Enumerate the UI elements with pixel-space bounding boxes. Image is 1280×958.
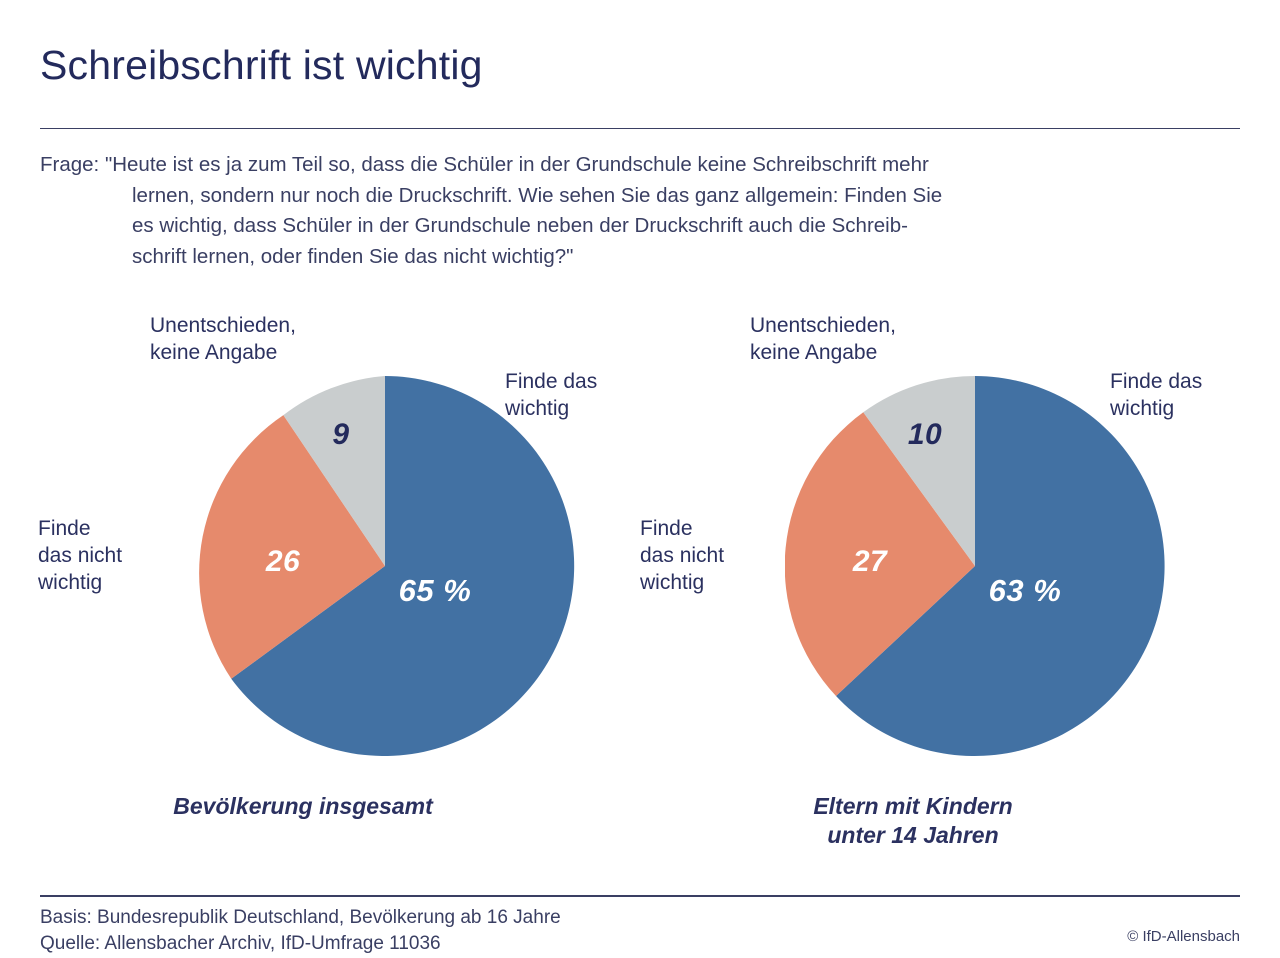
question-line-3: es wichtig, dass Schüler in der Grundsch… bbox=[40, 211, 1220, 242]
pie-caption-left: Bevölkerung insgesamt bbox=[23, 792, 583, 821]
pie-chart-eltern: Unentschieden, keine Angabe Finde das wi… bbox=[630, 300, 1190, 860]
question-line-1: Frage: "Heute ist es ja zum Teil so, das… bbox=[40, 150, 1220, 181]
footer-divider bbox=[40, 895, 1240, 897]
callout-notimportant-right-line2: das nicht bbox=[640, 542, 780, 569]
pie-value-important-left: 65 % bbox=[399, 573, 472, 608]
pie-chart-bevoelkerung: Unentschieden, keine Angabe Finde das wi… bbox=[20, 300, 580, 860]
callout-undecided-right-line1: Unentschieden, bbox=[750, 312, 980, 339]
question-line-2: lernen, sondern nur noch die Druckschrif… bbox=[40, 181, 1220, 212]
pie-value-undecided-left: 9 bbox=[332, 418, 349, 451]
callout-notimportant-left: Finde das nicht wichtig bbox=[38, 515, 178, 596]
callout-notimportant-right-line3: wichtig bbox=[640, 569, 780, 596]
callout-undecided-right: Unentschieden, keine Angabe bbox=[750, 312, 980, 366]
infographic-page: Schreibschrift ist wichtig Frage: "Heute… bbox=[0, 0, 1280, 958]
pie-caption-left-line1: Bevölkerung insgesamt bbox=[23, 792, 583, 821]
page-title: Schreibschrift ist wichtig bbox=[40, 42, 483, 89]
footer-quelle: Quelle: Allensbacher Archiv, IfD-Umfrage… bbox=[40, 931, 561, 957]
callout-undecided-left-line2: keine Angabe bbox=[150, 339, 380, 366]
callout-notimportant-right-line1: Finde bbox=[640, 515, 780, 542]
pie-right-svg: 63 % 27 10 bbox=[785, 376, 1165, 756]
footer-block: Basis: Bundesrepublik Deutschland, Bevöl… bbox=[40, 905, 561, 957]
pie-value-notimportant-left: 26 bbox=[265, 545, 300, 578]
callout-notimportant-right: Finde das nicht wichtig bbox=[640, 515, 780, 596]
question-block: Frage: "Heute ist es ja zum Teil so, das… bbox=[40, 150, 1220, 272]
callout-notimportant-left-line1: Finde bbox=[38, 515, 178, 542]
pie-right-wrap: 63 % 27 10 bbox=[785, 376, 1165, 756]
pie-value-important-right: 63 % bbox=[989, 573, 1062, 608]
footer-basis: Basis: Bundesrepublik Deutschland, Bevöl… bbox=[40, 905, 561, 931]
pie-value-notimportant-right: 27 bbox=[852, 545, 888, 578]
callout-undecided-right-line2: keine Angabe bbox=[750, 339, 980, 366]
pie-left-wrap: 65 % 26 9 bbox=[195, 376, 575, 756]
callout-notimportant-left-line2: das nicht bbox=[38, 542, 178, 569]
callout-notimportant-left-line3: wichtig bbox=[38, 569, 178, 596]
pie-left-svg: 65 % 26 9 bbox=[195, 376, 575, 756]
pie-value-undecided-right: 10 bbox=[908, 418, 942, 451]
pie-caption-right-line1: Eltern mit Kindern bbox=[633, 792, 1193, 821]
pie-caption-right: Eltern mit Kindern unter 14 Jahren bbox=[633, 792, 1193, 850]
header-divider bbox=[40, 128, 1240, 129]
question-line-4: schrift lernen, oder finden Sie das nich… bbox=[40, 242, 1220, 273]
callout-undecided-left-line1: Unentschieden, bbox=[150, 312, 380, 339]
callout-undecided-left: Unentschieden, keine Angabe bbox=[150, 312, 380, 366]
copyright-notice: © IfD-Allensbach bbox=[1127, 928, 1240, 945]
pie-caption-right-line2: unter 14 Jahren bbox=[633, 821, 1193, 850]
